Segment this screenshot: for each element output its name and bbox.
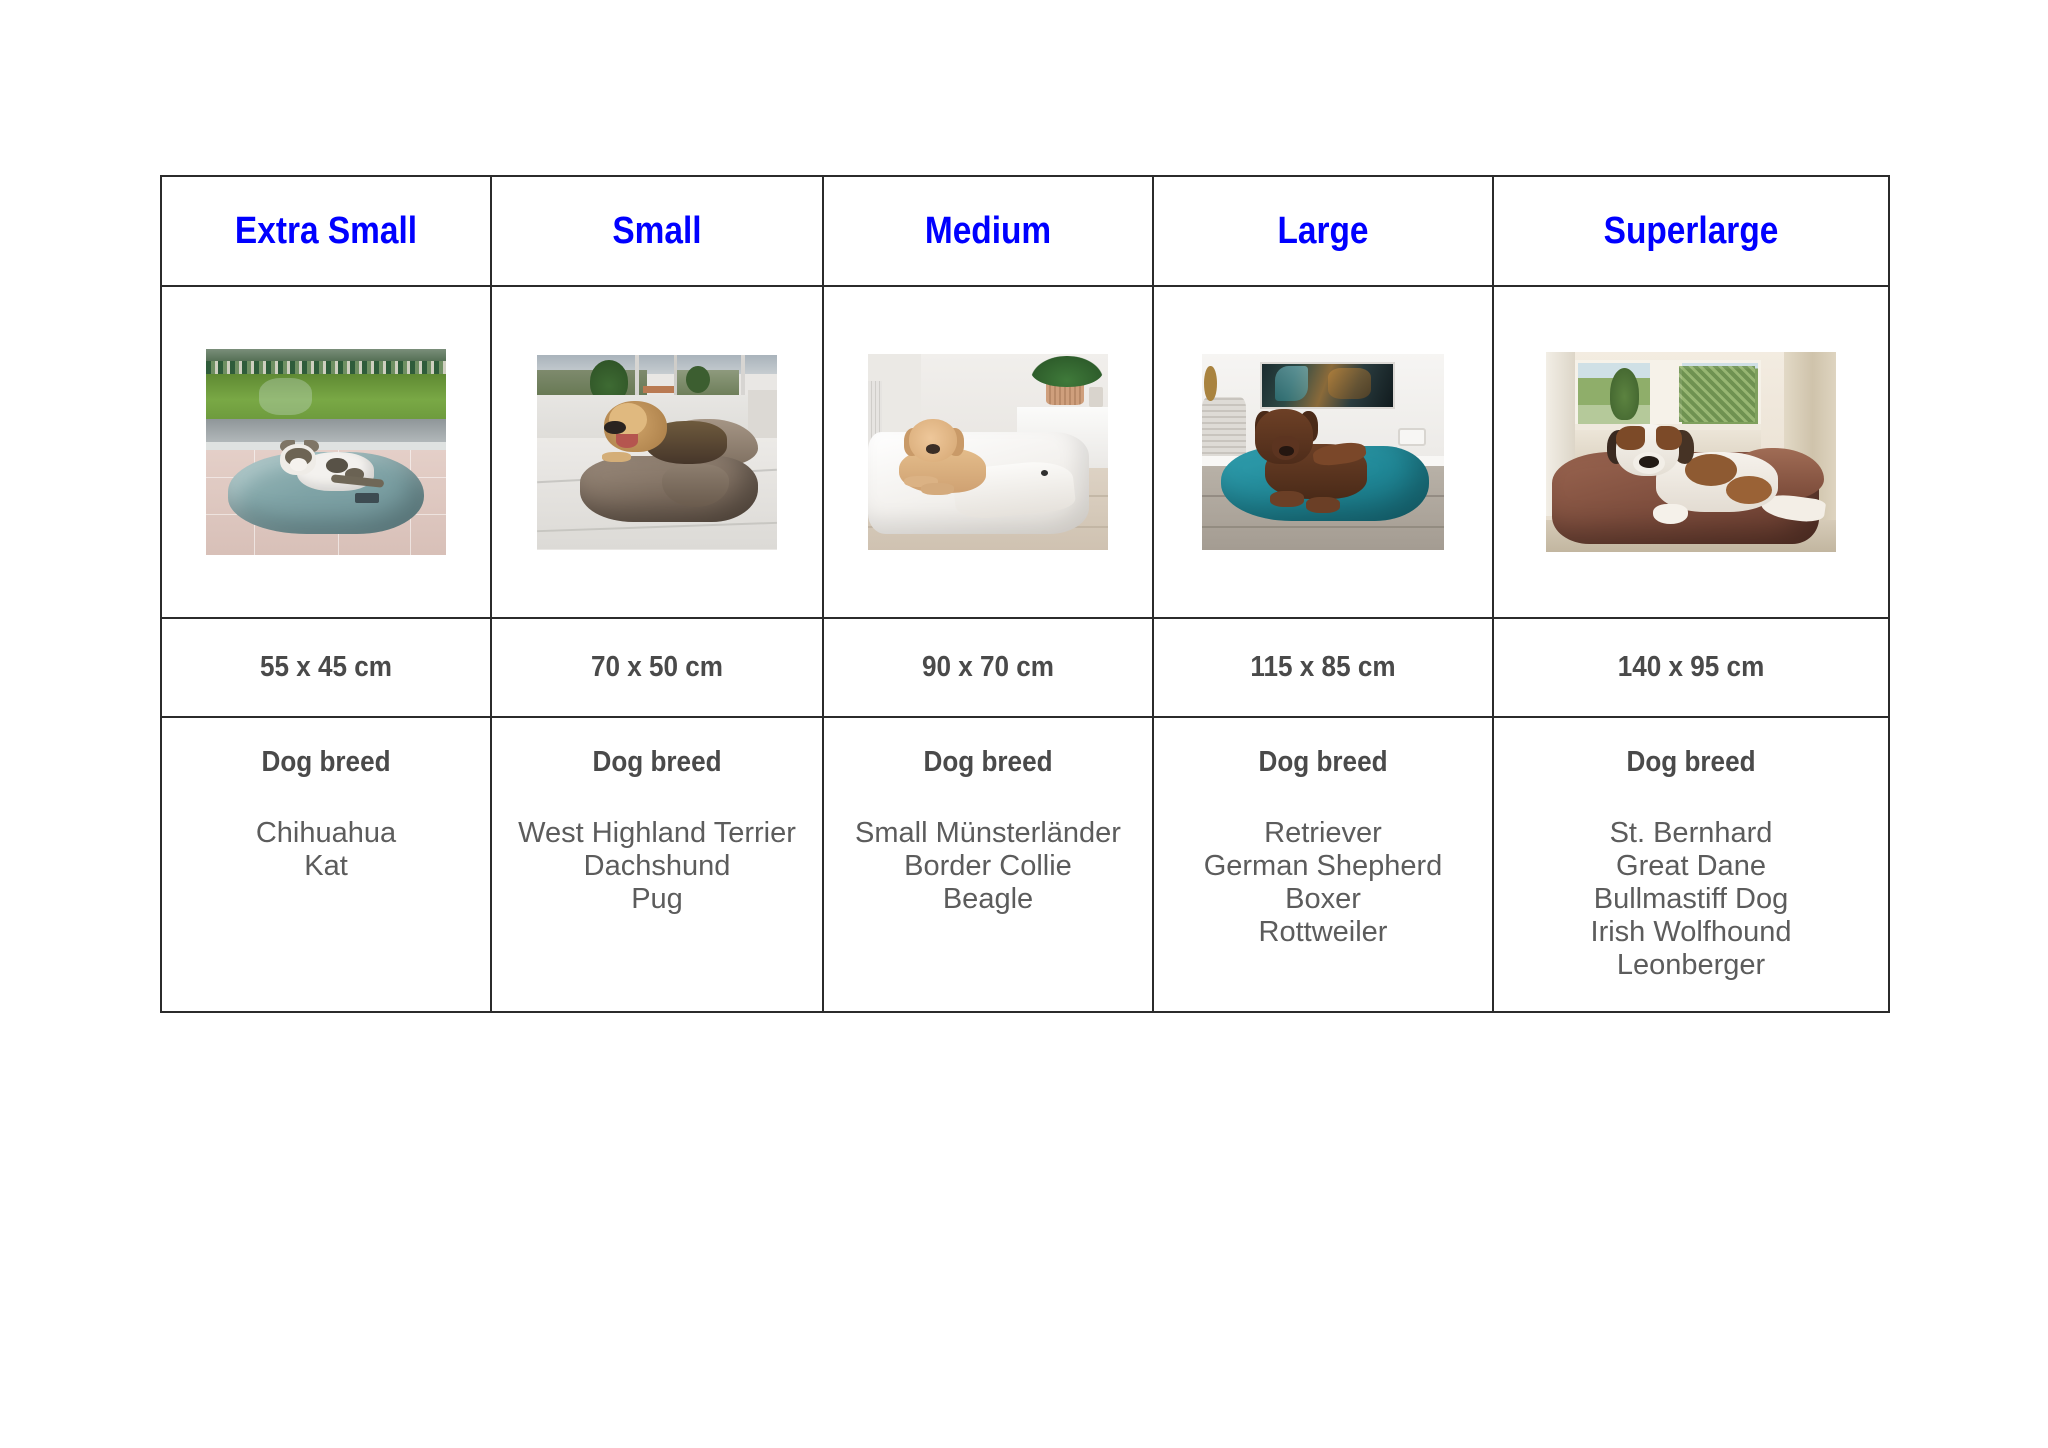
breed-item: Dachshund bbox=[492, 850, 822, 883]
size-header-label: Small bbox=[512, 212, 802, 250]
cell-size-header-superlarge: Superlarge bbox=[1493, 176, 1889, 286]
breed-item: German Shepherd bbox=[1154, 850, 1492, 883]
breed-item: Bullmastiff Dog bbox=[1494, 883, 1888, 916]
cell-breeds-large: Dog breed Retriever German Shepherd Boxe… bbox=[1153, 717, 1493, 1012]
breed-title: Dog breed bbox=[1171, 746, 1475, 779]
photo-cat-on-teal-bed bbox=[206, 349, 446, 555]
photo-wrap bbox=[162, 287, 490, 617]
cell-photo-superlarge bbox=[1493, 286, 1889, 618]
breed-item: Retriever bbox=[1154, 817, 1492, 850]
cell-dimensions-large: 115 x 85 cm bbox=[1153, 618, 1493, 717]
breed-block: Dog breed St. Bernhard Great Dane Bullma… bbox=[1494, 718, 1888, 982]
size-header-label: Large bbox=[1174, 212, 1471, 250]
breed-item: Border Collie bbox=[824, 850, 1152, 883]
cell-photo-medium bbox=[823, 286, 1153, 618]
size-header-label: Superlarge bbox=[1518, 212, 1865, 250]
table-row-dimensions: 55 x 45 cm 70 x 50 cm 90 x 70 cm 115 x 8… bbox=[161, 618, 1889, 717]
cell-dimensions-medium: 90 x 70 cm bbox=[823, 618, 1153, 717]
photo-wrap bbox=[824, 287, 1152, 617]
size-header-label: Medium bbox=[844, 212, 1133, 250]
cell-dimensions-extra-small: 55 x 45 cm bbox=[161, 618, 491, 717]
dimensions-label: 140 x 95 cm bbox=[1514, 651, 1869, 684]
dog-bed-size-table: Extra Small Small Medium Large Superlarg… bbox=[160, 175, 1890, 1013]
breed-item: Kat bbox=[162, 850, 490, 883]
breed-item: Leonberger bbox=[1494, 949, 1888, 982]
cell-photo-large bbox=[1153, 286, 1493, 618]
breed-list: Chihuahua Kat bbox=[162, 817, 490, 883]
photo-labrador-on-teal-bed bbox=[1202, 354, 1444, 550]
table-row-photos bbox=[161, 286, 1889, 618]
breed-item: Irish Wolfhound bbox=[1494, 916, 1888, 949]
breed-title: Dog breed bbox=[509, 746, 806, 779]
breed-title: Dog breed bbox=[1514, 746, 1869, 779]
breed-item: Pug bbox=[492, 883, 822, 916]
dimensions-label: 70 x 50 cm bbox=[509, 651, 806, 684]
photo-st-bernard-on-brown-bed bbox=[1546, 352, 1836, 552]
cell-size-header-small: Small bbox=[491, 176, 823, 286]
breed-list: West Highland Terrier Dachshund Pug bbox=[492, 817, 822, 916]
breed-list: Retriever German Shepherd Boxer Rottweil… bbox=[1154, 817, 1492, 949]
breed-title: Dog breed bbox=[178, 746, 473, 779]
dimensions-label: 90 x 70 cm bbox=[840, 651, 1135, 684]
table-row-size-headers: Extra Small Small Medium Large Superlarg… bbox=[161, 176, 1889, 286]
breed-block: Dog breed Chihuahua Kat bbox=[162, 718, 490, 883]
cell-size-header-extra-small: Extra Small bbox=[161, 176, 491, 286]
cell-breeds-medium: Dog breed Small Münsterländer Border Col… bbox=[823, 717, 1153, 1012]
breed-list: St. Bernhard Great Dane Bullmastiff Dog … bbox=[1494, 817, 1888, 982]
photo-wrap bbox=[1154, 287, 1492, 617]
cell-photo-small bbox=[491, 286, 823, 618]
cell-photo-extra-small bbox=[161, 286, 491, 618]
photo-terrier-on-brown-bed bbox=[537, 355, 777, 550]
cell-dimensions-small: 70 x 50 cm bbox=[491, 618, 823, 717]
breed-item: Rottweiler bbox=[1154, 916, 1492, 949]
breed-title: Dog breed bbox=[840, 746, 1135, 779]
breed-item: Great Dane bbox=[1494, 850, 1888, 883]
cell-breeds-extra-small: Dog breed Chihuahua Kat bbox=[161, 717, 491, 1012]
breed-item: Chihuahua bbox=[162, 817, 490, 850]
breed-item: West Highland Terrier bbox=[492, 817, 822, 850]
breed-item: Boxer bbox=[1154, 883, 1492, 916]
table-row-breeds: Dog breed Chihuahua Kat Dog breed West H… bbox=[161, 717, 1889, 1012]
cell-dimensions-superlarge: 140 x 95 cm bbox=[1493, 618, 1889, 717]
dimensions-label: 115 x 85 cm bbox=[1171, 651, 1475, 684]
breed-block: Dog breed Retriever German Shepherd Boxe… bbox=[1154, 718, 1492, 949]
breed-item: St. Bernhard bbox=[1494, 817, 1888, 850]
cell-size-header-large: Large bbox=[1153, 176, 1493, 286]
cell-breeds-superlarge: Dog breed St. Bernhard Great Dane Bullma… bbox=[1493, 717, 1889, 1012]
photo-cockapoo-on-white-bed bbox=[868, 354, 1108, 550]
size-header-label: Extra Small bbox=[182, 212, 471, 250]
breed-item: Beagle bbox=[824, 883, 1152, 916]
breed-block: Dog breed West Highland Terrier Dachshun… bbox=[492, 718, 822, 916]
breed-block: Dog breed Small Münsterländer Border Col… bbox=[824, 718, 1152, 916]
breed-item: Small Münsterländer bbox=[824, 817, 1152, 850]
page-canvas: Extra Small Small Medium Large Superlarg… bbox=[0, 0, 2048, 1448]
photo-wrap bbox=[1494, 287, 1888, 617]
dimensions-label: 55 x 45 cm bbox=[178, 651, 473, 684]
photo-wrap bbox=[492, 287, 822, 617]
cell-size-header-medium: Medium bbox=[823, 176, 1153, 286]
cell-breeds-small: Dog breed West Highland Terrier Dachshun… bbox=[491, 717, 823, 1012]
breed-list: Small Münsterländer Border Collie Beagle bbox=[824, 817, 1152, 916]
